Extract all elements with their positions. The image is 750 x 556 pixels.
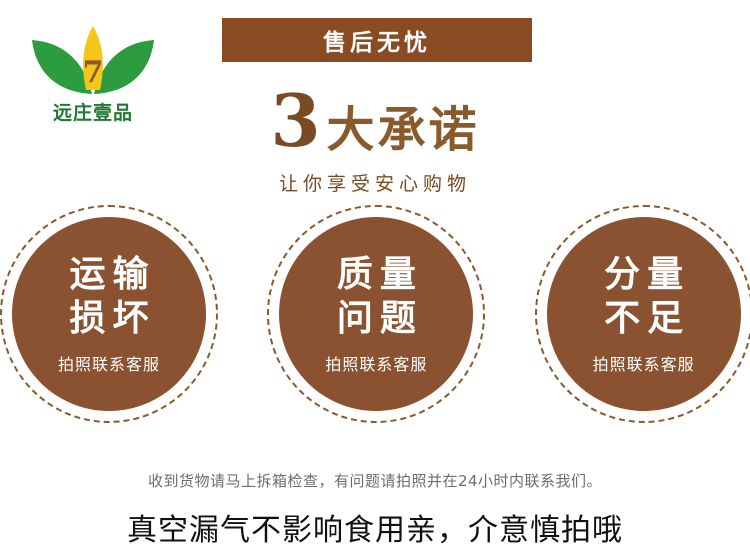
promise-line2: 不足 bbox=[597, 297, 690, 341]
footer-headline: 真空漏气不影响食用亲，介意慎拍哦 bbox=[0, 505, 750, 549]
headline-number: 3 bbox=[270, 85, 320, 157]
promise-line1: 质量 bbox=[330, 253, 423, 297]
promise-circle-list: 运输 损坏 拍照联系客服 质量 问题 拍照联系客服 分量 不足 拍照联系客服 bbox=[0, 205, 750, 445]
promise-line1: 分量 bbox=[597, 253, 690, 297]
promise-note: 拍照联系客服 bbox=[593, 351, 695, 375]
headline-row: 3 大承诺 bbox=[270, 85, 479, 157]
promise-line2: 问题 bbox=[330, 297, 423, 341]
headline-block: 3 大承诺 让你享受安心购物 bbox=[0, 85, 750, 196]
circle-body: 分量 不足 拍照联系客服 bbox=[547, 217, 741, 411]
after-sales-banner: 售后无忧 bbox=[222, 18, 532, 62]
headline-main-text: 大承诺 bbox=[327, 106, 480, 154]
promise-note: 拍照联系客服 bbox=[325, 351, 427, 375]
banner-title: 售后无忧 bbox=[323, 23, 431, 57]
promise-circle-weight: 分量 不足 拍照联系客服 bbox=[535, 205, 750, 423]
promise-circle-quality: 质量 问题 拍照联系客服 bbox=[267, 205, 482, 423]
headline-subtitle: 让你享受安心购物 bbox=[0, 169, 750, 196]
promise-line2: 损坏 bbox=[62, 297, 155, 341]
promise-circle-transport: 运输 损坏 拍照联系客服 bbox=[0, 205, 215, 423]
promise-note: 拍照联系客服 bbox=[58, 351, 160, 375]
promise-line1: 运输 bbox=[62, 253, 155, 297]
footer-instruction: 收到货物请马上拆箱检查，有问题请拍照并在24小时内联系我们。 bbox=[0, 470, 750, 491]
circle-body: 质量 问题 拍照联系客服 bbox=[279, 217, 473, 411]
circle-body: 运输 损坏 拍照联系客服 bbox=[12, 217, 206, 411]
